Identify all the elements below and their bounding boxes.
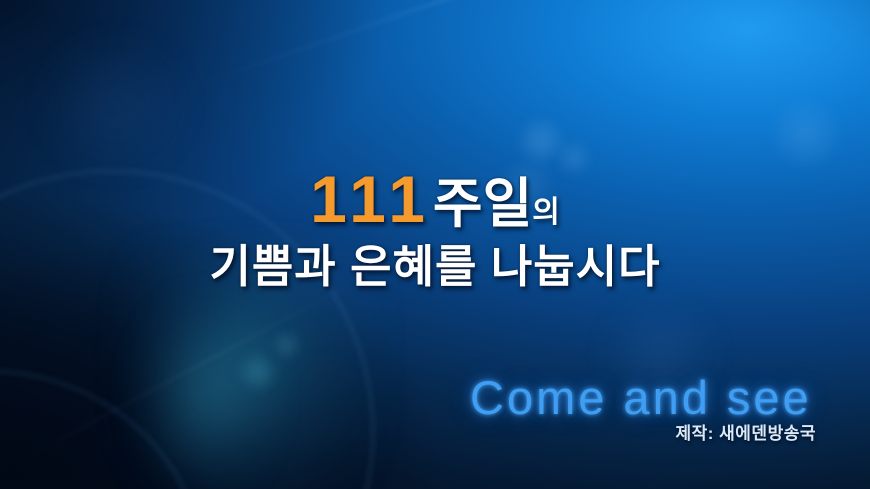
program-logo-block: Come and see 제작: 새에덴방송국 (470, 374, 830, 444)
title-card-slide: 111주일의 기쁨과 은혜를 나눕시다 Come and see 제작: 새에덴… (0, 0, 870, 489)
headline-line-2: 기쁨과 은혜를 나눕시다 (0, 244, 870, 289)
headline-line-1: 111주일의 (0, 166, 870, 238)
sunday-unit-small: 의 (532, 196, 560, 229)
bokeh-circle-4 (770, 98, 842, 170)
program-title: Come and see (470, 374, 830, 421)
sunday-unit-large: 주일 (433, 174, 532, 234)
sunday-number: 111 (310, 162, 431, 236)
headline: 111주일의 기쁨과 은혜를 나눕시다 (0, 166, 870, 289)
bokeh-circle-topleft (40, 40, 190, 170)
bokeh-circle-6 (272, 330, 302, 360)
bokeh-circle-5 (238, 352, 278, 392)
